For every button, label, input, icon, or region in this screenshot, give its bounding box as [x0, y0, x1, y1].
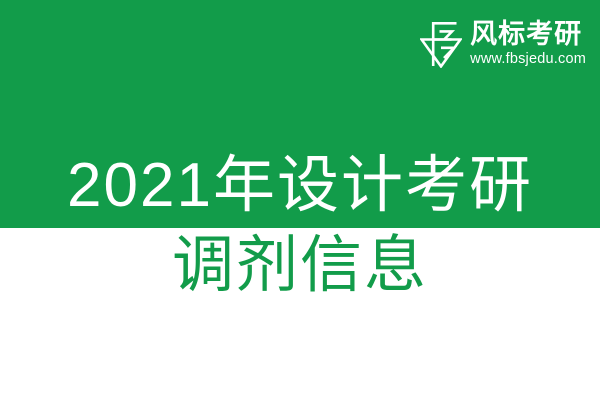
headline-block: 2021年设计考研 调剂信息	[0, 0, 600, 400]
poster-canvas: 风标考研 www.fbsjedu.com 2021年设计考研 调剂信息	[0, 0, 600, 400]
headline-line-1: 2021年设计考研	[0, 148, 600, 224]
headline-line-2: 调剂信息	[0, 228, 600, 304]
